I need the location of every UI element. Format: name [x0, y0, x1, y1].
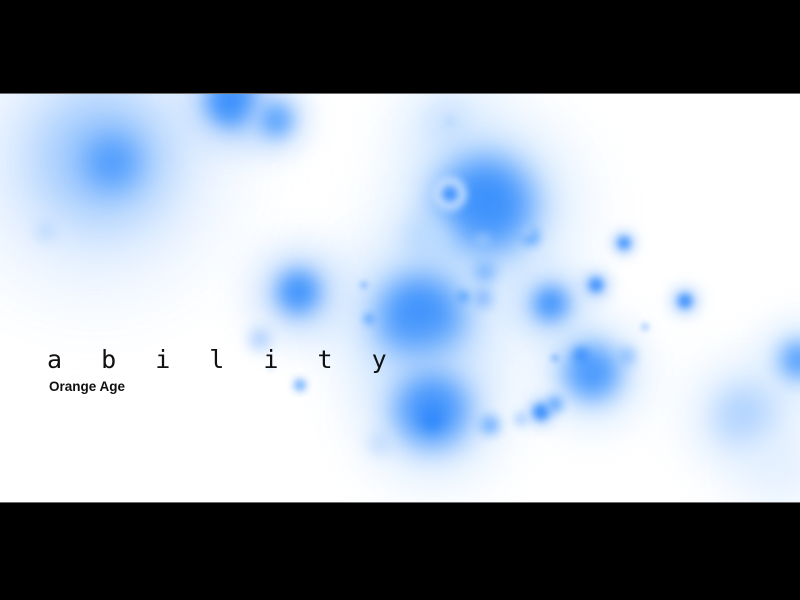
bokeh-circle — [641, 323, 649, 331]
bokeh-circle — [0, 94, 213, 280]
bokeh-circle — [678, 294, 692, 308]
bokeh-circle — [740, 428, 800, 503]
bokeh-circle — [428, 102, 468, 142]
letterbox-edge-top — [0, 93, 800, 94]
bokeh-circle — [207, 94, 257, 126]
bokeh-circle — [41, 96, 165, 220]
bokeh-circle — [278, 271, 320, 313]
bokeh-circle — [364, 314, 374, 324]
letterbox-edge-bottom — [0, 502, 800, 503]
bokeh-circle — [481, 416, 499, 434]
bokeh-circle — [475, 262, 495, 282]
bokeh-circle — [437, 157, 533, 253]
bokeh-circle — [534, 287, 568, 321]
bokeh-circle — [781, 342, 800, 378]
bokeh-circle — [457, 291, 469, 303]
bokeh-circle — [619, 348, 635, 364]
letterbox-bar-top — [0, 0, 800, 93]
bokeh-circle — [422, 410, 442, 430]
bokeh-circle — [36, 221, 56, 241]
bokeh-circle — [477, 234, 489, 246]
bokeh-circle — [613, 232, 635, 254]
bokeh-circle — [523, 227, 533, 237]
bokeh-circle — [396, 374, 468, 446]
bokeh-circle — [565, 345, 619, 399]
bokeh-circle — [261, 105, 291, 135]
bokeh-circle — [551, 354, 559, 362]
bokeh-circle — [672, 288, 698, 314]
bokeh-circle — [546, 326, 638, 418]
bokeh-circle — [717, 388, 773, 444]
bokeh-circle — [618, 237, 630, 249]
bokeh-circle — [533, 404, 549, 420]
bokeh-circle — [190, 94, 274, 143]
bokeh-circle — [442, 186, 458, 202]
bokeh-circle — [259, 253, 339, 333]
artist-name: Orange Age — [49, 380, 399, 394]
letterbox-bar-bottom — [0, 503, 800, 600]
track-title: a b i l i t y — [47, 347, 399, 372]
bokeh-circle — [515, 413, 527, 425]
video-player-frame: a b i l i t y Orange Age — [0, 0, 800, 600]
bokeh-circle — [445, 117, 455, 127]
bokeh-circle — [433, 177, 467, 211]
bokeh-circle — [765, 326, 800, 394]
bokeh-circle — [249, 94, 303, 147]
video-viewport[interactable]: a b i l i t y Orange Age — [0, 94, 800, 503]
bokeh-circle — [589, 278, 603, 292]
bokeh-circle — [528, 399, 554, 425]
bokeh-circle — [369, 432, 391, 454]
bokeh-circle — [547, 396, 563, 412]
bokeh-circle — [86, 136, 138, 188]
bokeh-circle — [360, 281, 368, 289]
now-playing-overlay: a b i l i t y Orange Age — [47, 347, 399, 394]
bokeh-circle — [403, 126, 567, 290]
bokeh-circle — [519, 273, 583, 337]
bokeh-circle — [523, 229, 539, 245]
bokeh-circle — [403, 215, 449, 261]
bokeh-circle — [474, 289, 492, 307]
bokeh-background — [0, 94, 800, 503]
bokeh-circle — [693, 364, 797, 468]
bokeh-circle — [574, 348, 588, 362]
bokeh-circle — [583, 272, 609, 298]
bokeh-circle — [400, 94, 496, 170]
